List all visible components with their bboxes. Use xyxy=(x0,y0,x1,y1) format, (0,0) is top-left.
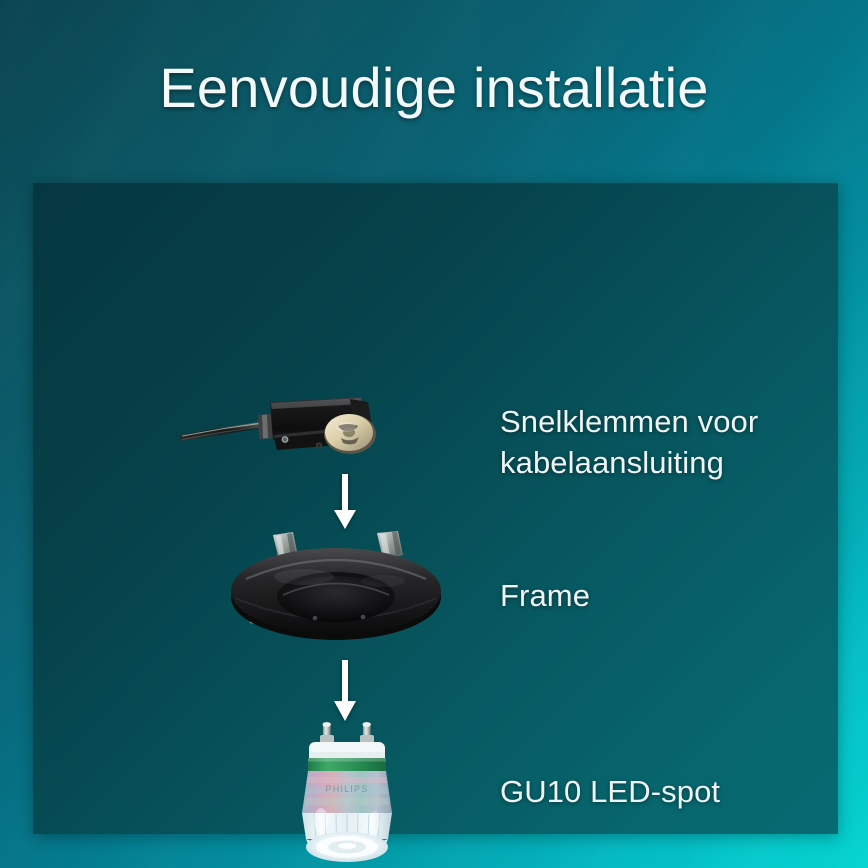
gu10-led-spot-photo: PHILIPS xyxy=(291,721,403,866)
svg-text:PHILIPS: PHILIPS xyxy=(326,784,369,794)
step-label-terminal-block: Snelklemmen voor kabelaansluiting xyxy=(500,401,820,483)
step-label-frame: Frame xyxy=(500,575,590,616)
step-label-gu10-led-spot: GU10 LED-spot xyxy=(500,771,720,812)
diagram-panel: Snelklemmen voor kabelaansluiting xyxy=(33,183,838,834)
arrow-down-icon xyxy=(330,660,360,722)
arrow-down-icon xyxy=(330,474,360,530)
page-title: Eenvoudige installatie xyxy=(0,57,868,119)
terminal-block-photo xyxy=(178,382,398,477)
installation-diagram-slide: Eenvoudige installatie xyxy=(0,0,868,868)
frame-photo xyxy=(211,525,461,647)
